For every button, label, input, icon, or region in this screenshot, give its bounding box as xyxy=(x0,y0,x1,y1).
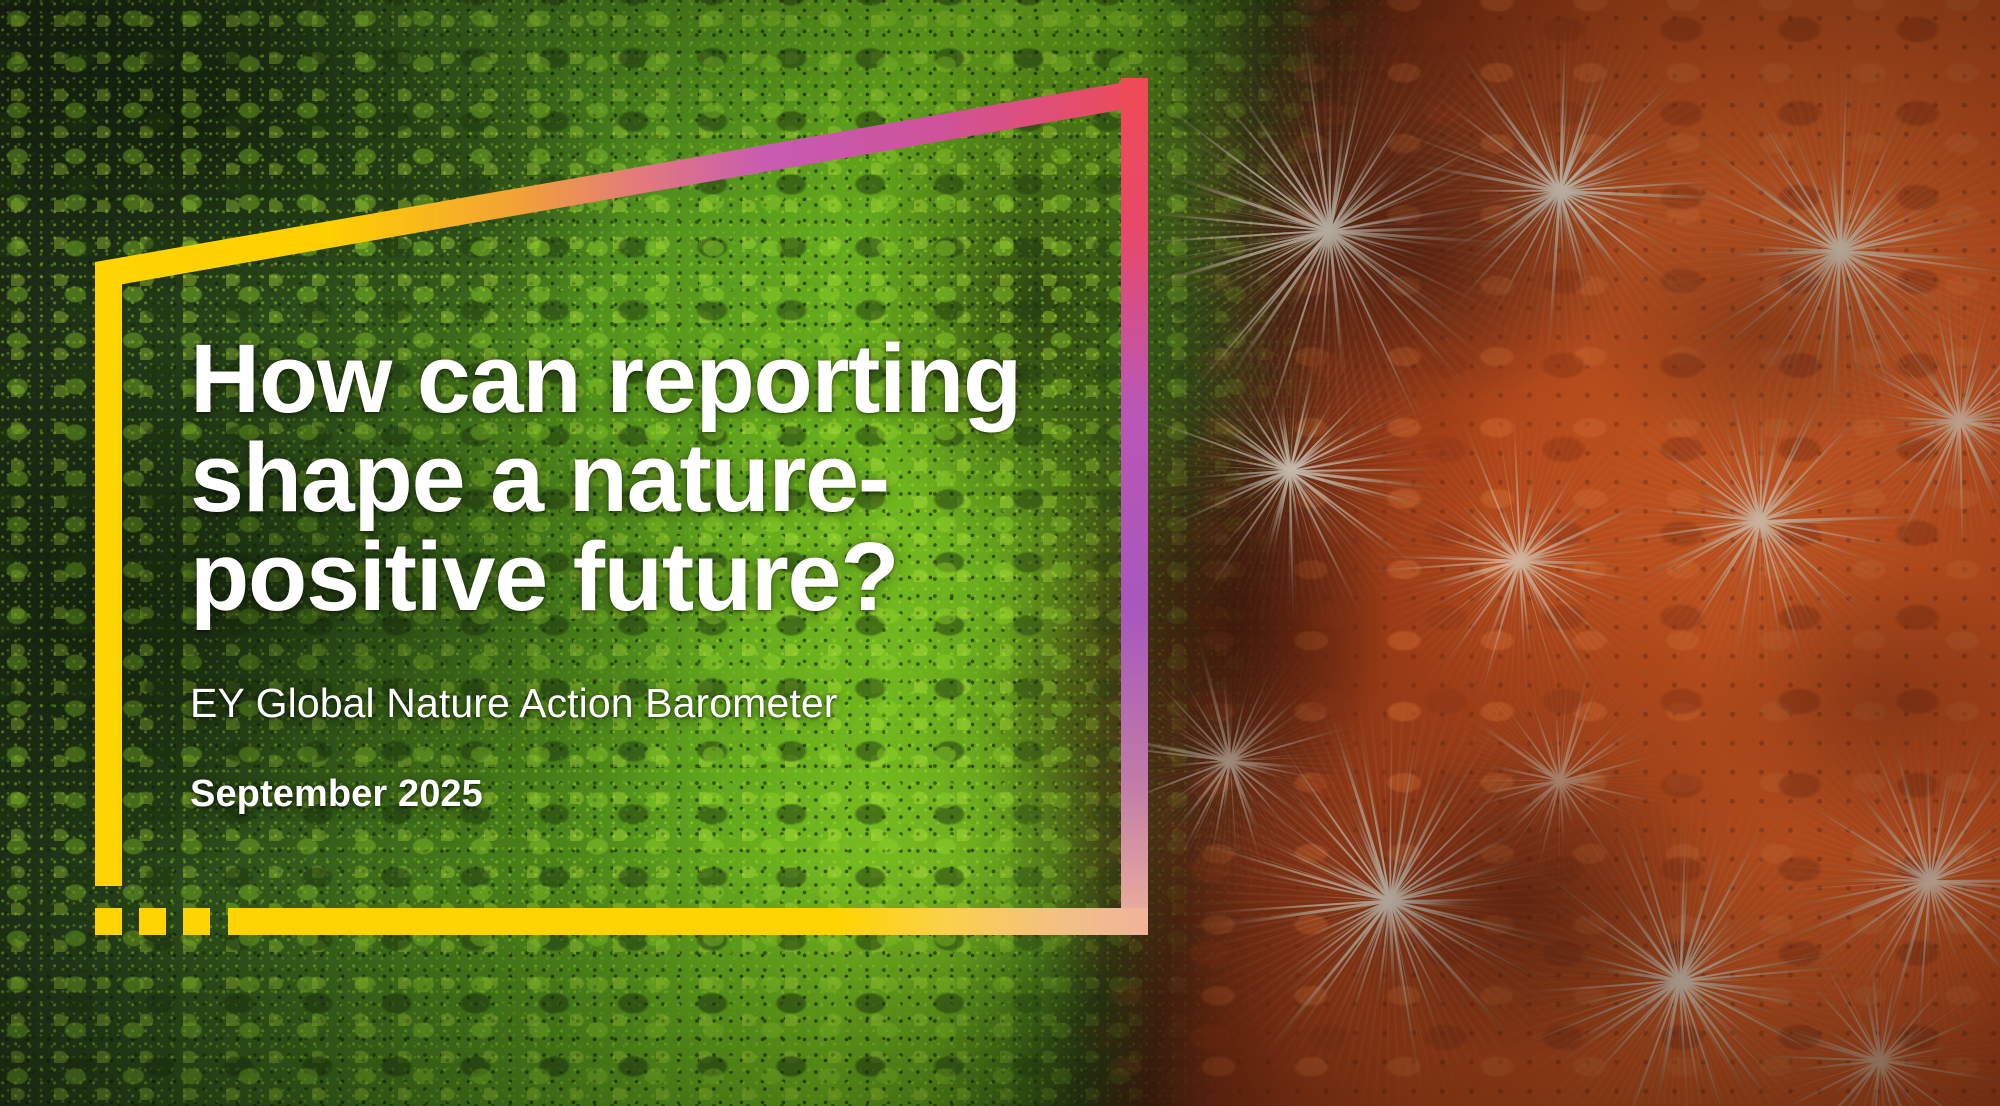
cover-copy-block: How can reporting shape a nature- positi… xyxy=(190,330,1090,816)
report-subtitle: EY Global Nature Action Barometer xyxy=(190,680,1090,727)
page-title: How can reporting shape a nature- positi… xyxy=(190,330,1090,627)
publication-date: September 2025 xyxy=(190,773,1090,816)
cover-page: How can reporting shape a nature- positi… xyxy=(0,0,2000,1106)
